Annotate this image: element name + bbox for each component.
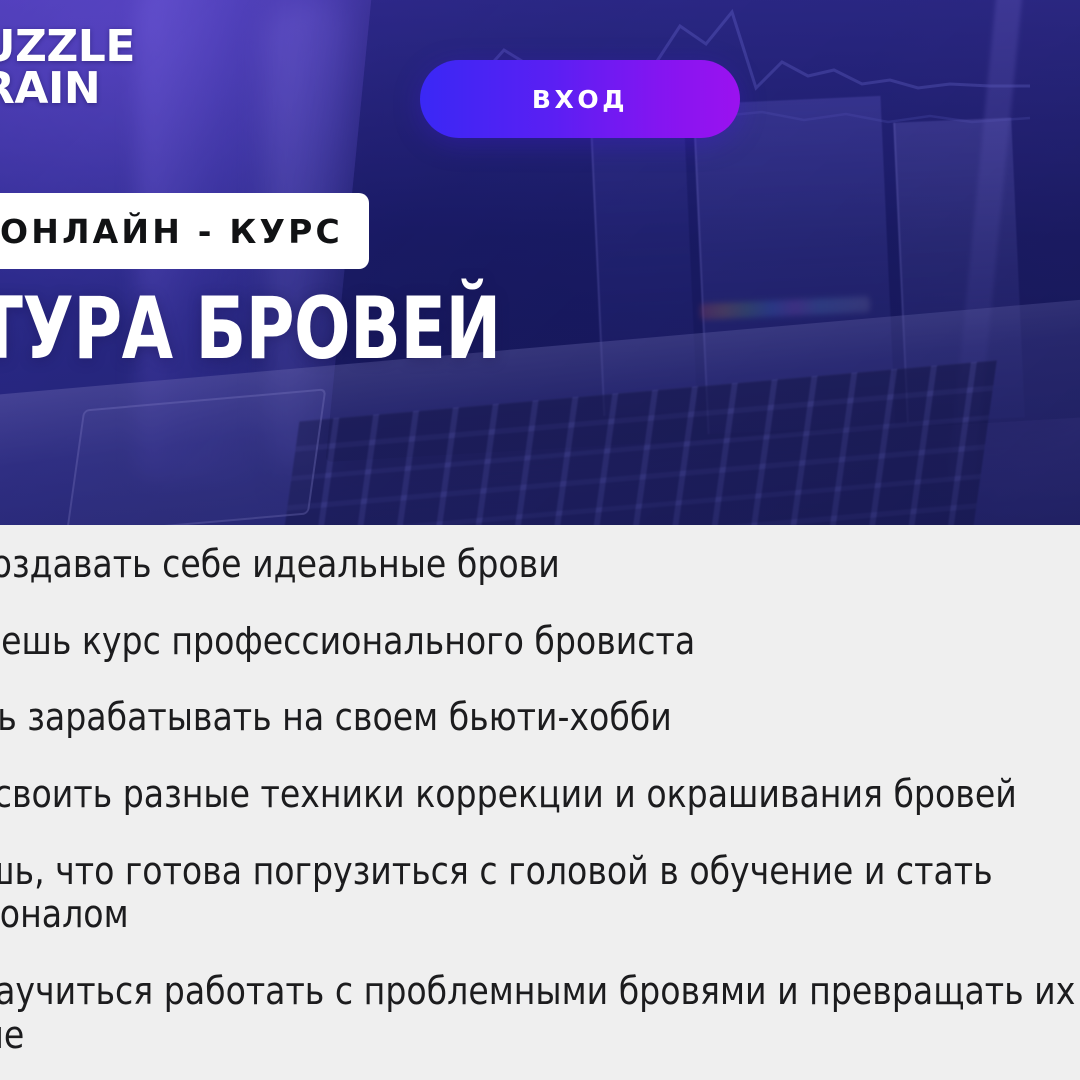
brand-logo[interactable]: PUZZLE BRAIN [0,26,135,110]
benefit-item: Хочешь создавать себе идеальные брови [0,543,1080,587]
benefit-list: Хочешь создавать себе идеальные брови Да… [0,543,1080,1080]
benefit-item: Давно ищешь курс профессионального брови… [0,620,1080,664]
page-title: АРХИТЕКТУРА БРОВЕЙ [0,286,501,372]
benefit-item: Хочешь освоить разные техники коррекции … [0,773,1080,817]
benefit-item: Хочешь научиться работать с проблемными … [0,970,1080,1057]
landing-page-screenshot: PUZZLE BRAIN ВХОД ОНЛАЙН - КУРС АРХИТЕКТ… [0,0,1080,1080]
brand-logo-line-2: BRAIN [0,68,135,110]
benefit-item: Понимаешь, что готова погрузиться с голо… [0,850,1080,937]
login-button[interactable]: ВХОД [420,60,740,138]
benefit-item: Ты хочешь зарабатывать на своем бьюти-хо… [0,696,1080,740]
brand-logo-line-1: PUZZLE [0,26,135,68]
benefits-section: Хочешь создавать себе идеальные брови Да… [0,525,1080,1080]
hero-section: PUZZLE BRAIN ВХОД ОНЛАЙН - КУРС АРХИТЕКТ… [0,0,1080,525]
course-type-badge: ОНЛАЙН - КУРС [0,193,369,269]
